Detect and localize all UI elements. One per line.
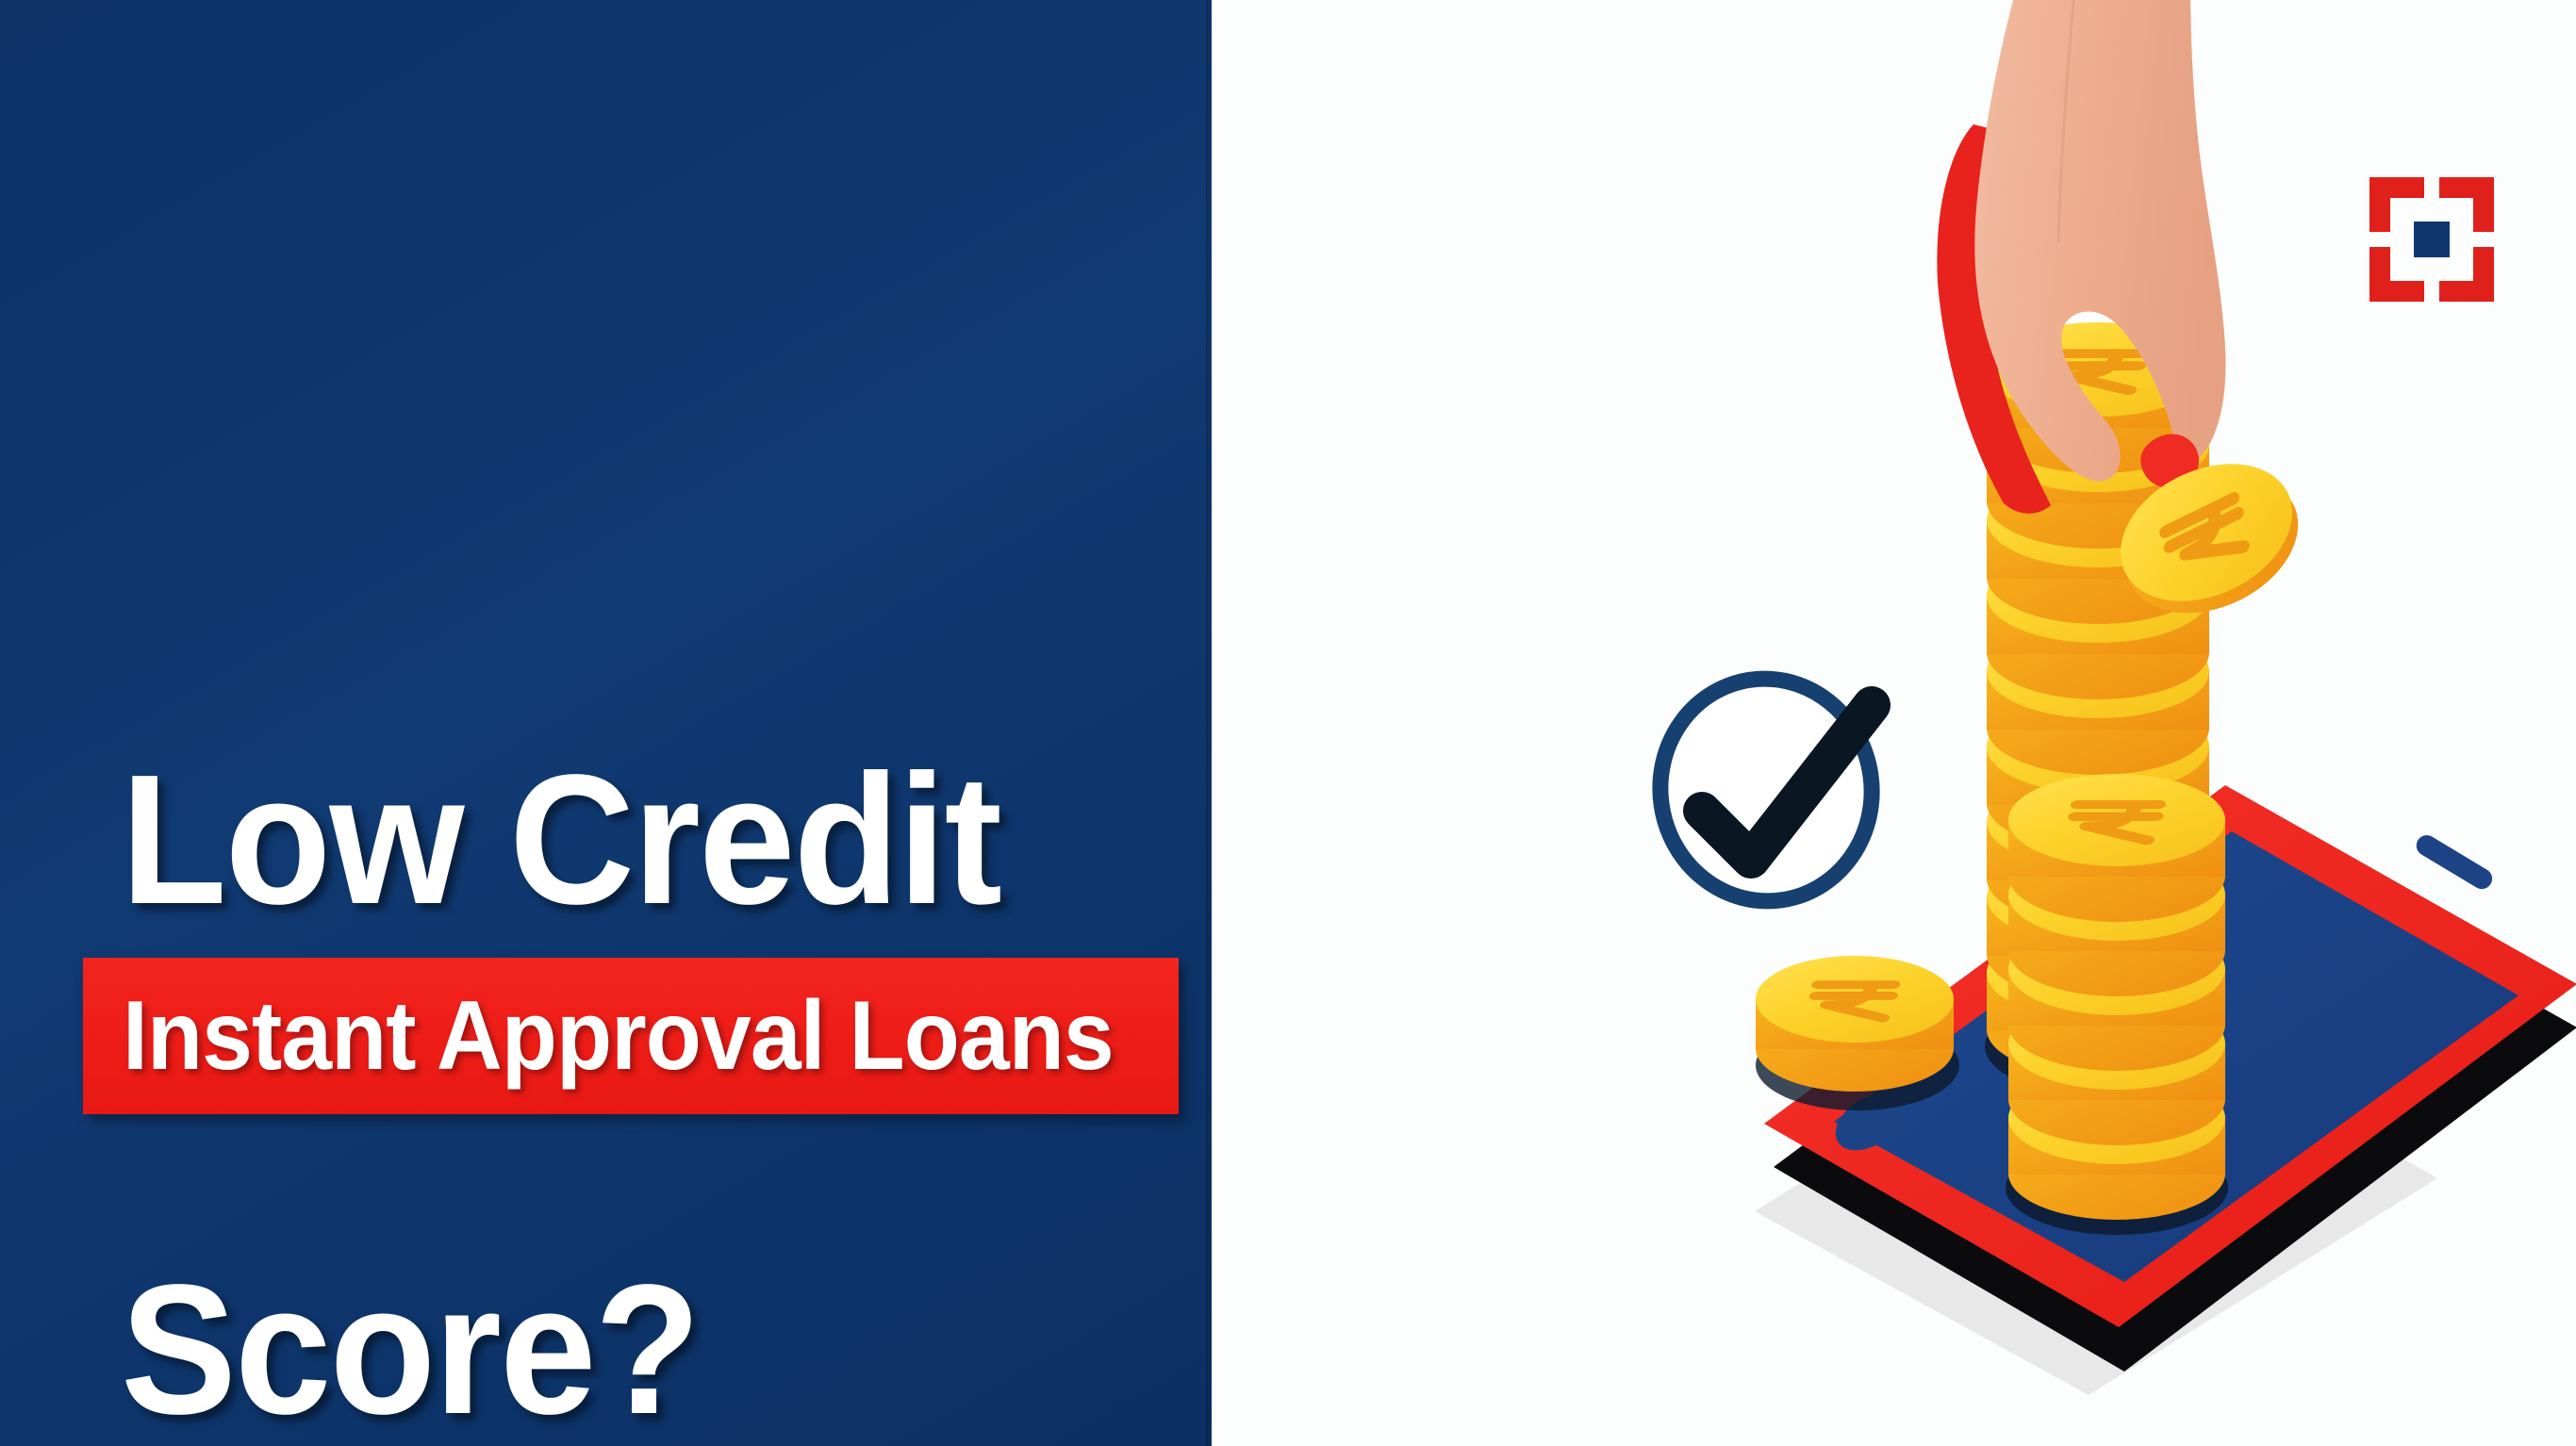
hand — [1937, 0, 2225, 514]
phone-speaker-slot — [2413, 831, 2496, 893]
cta-banner[interactable]: Instant Approval Loans — [83, 958, 1179, 1114]
approval-checkmark — [1646, 665, 1887, 915]
poster-canvas: Low Credit Score? Instant Approval Loans — [0, 0, 2576, 1446]
page-title: Low Credit Score? — [121, 415, 1114, 1446]
short-stack-coins — [2008, 774, 2225, 1220]
illustration — [1212, 0, 2576, 1446]
short-coin-stack — [2006, 774, 2228, 1235]
single-coin — [1756, 956, 1959, 1110]
right-panel — [1212, 0, 2576, 1446]
left-panel: Low Credit Score? Instant Approval Loans — [0, 0, 1212, 1446]
headline-line-1: Low Credit — [121, 755, 1114, 925]
illustration-svg — [1212, 0, 2576, 1446]
cta-banner-label: Instant Approval Loans — [123, 980, 1114, 1093]
headline-line-2: Score? — [121, 1265, 1114, 1435]
